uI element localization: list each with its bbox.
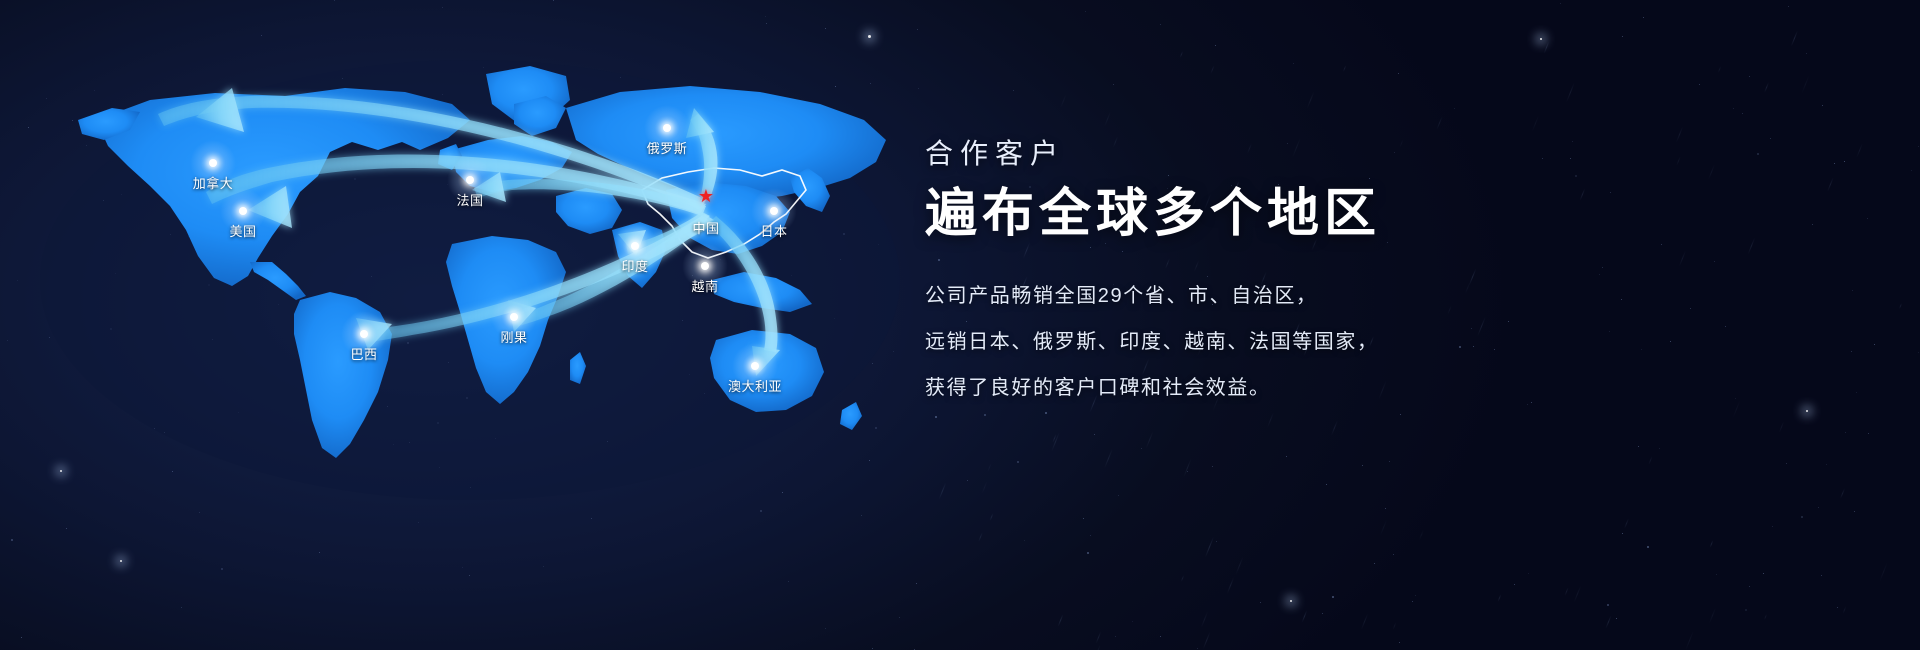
background-speck [1742,113,1743,114]
background-streak [978,532,983,542]
background-speck [1385,508,1386,509]
background-streak [1202,631,1210,649]
background-streak [1856,144,1863,159]
background-speck [1560,3,1561,4]
background-streak [989,514,993,522]
background-speck [1415,595,1416,596]
background-streak [1060,95,1066,108]
background-speck [1749,76,1750,77]
background-speck [1374,563,1375,564]
background-streak [1532,116,1539,132]
background-speck [984,414,986,416]
background-streak [1764,614,1767,620]
background-streak [1880,562,1888,581]
background-streak [1092,645,1101,650]
background-glow-dot [1290,600,1292,602]
background-streak [1145,432,1153,449]
background-streak [1380,519,1387,535]
background-streak [1709,607,1716,623]
background-speck [1834,163,1835,164]
background-speck [1851,351,1852,352]
background-speck [1528,573,1529,574]
background-streak [1096,631,1102,643]
background-streak [1104,111,1111,127]
background-streak [1361,613,1368,630]
background-speck [1132,621,1133,622]
background-streak [1718,66,1722,73]
background-speck [1918,146,1919,147]
background-streak [1205,537,1214,558]
background-speck [1113,84,1114,85]
background-glow-dot [1806,410,1808,412]
background-speck [1013,90,1014,91]
background-streak [1104,449,1113,469]
background-streak [1899,303,1902,309]
body-line-1: 公司产品畅销全国29个省、市、自治区， [925,286,1825,306]
background-streak [1827,178,1833,192]
background-speck [1821,575,1822,576]
background-speck [1868,433,1869,434]
world-map-svg [0,0,960,650]
background-speck [1115,636,1116,637]
background-speck [1531,402,1532,403]
background-speck [1874,344,1875,345]
background-speck [1745,609,1747,611]
background-speck [1216,541,1217,542]
background-speck [1399,642,1400,643]
background-speck [1659,448,1660,449]
background-streak [1236,557,1244,575]
background-streak [1052,434,1056,442]
background-speck [1024,540,1025,541]
background-streak [1181,575,1185,582]
background-speck [1197,648,1198,649]
global-partners-banner: 加拿大美国巴西法国俄罗斯中国日本印度越南刚果澳大利亚 ★ 合作客户 遍布全球多个… [0,0,1920,650]
background-speck [1286,456,1287,457]
background-speck [1763,573,1764,574]
background-speck [1094,434,1095,435]
background-speck [1643,17,1644,18]
background-speck [1716,574,1717,575]
background-streak [1267,412,1274,427]
background-speck [1160,24,1161,25]
world-map: 加拿大美国巴西法国俄罗斯中国日本印度越南刚果澳大利亚 ★ [0,0,960,650]
background-speck [1389,461,1390,462]
background-streak [1648,456,1652,464]
background-speck [1083,518,1084,519]
background-streak [1211,65,1215,74]
background-speck [1118,495,1119,496]
background-speck [1845,432,1846,433]
background-glow-dot [1540,38,1542,40]
background-streak [1342,65,1346,72]
background-speck [1647,546,1649,548]
background-streak [981,481,987,494]
background-streak [1498,594,1502,602]
background-streak [1201,612,1208,628]
background-speck [1393,554,1394,555]
background-speck [1622,533,1623,534]
background-speck [1733,108,1734,109]
background-speck [1854,511,1855,512]
background-speck [1326,484,1327,485]
background-speck [1527,404,1528,405]
background-streak [1227,577,1234,593]
background-speck [1638,446,1639,447]
background-speck [1837,607,1838,608]
background-speck [1454,108,1455,109]
background-streak [1779,421,1784,433]
background-streak [1393,622,1397,630]
background-streak [1710,540,1714,548]
background-streak [1302,610,1308,622]
background-speck [967,480,968,481]
background-streak [1733,400,1741,417]
background-streak [1801,76,1809,94]
background-streak [1057,614,1063,626]
background-speck [1293,63,1294,64]
background-streak [1566,82,1575,101]
background-speck [1412,601,1413,602]
background-speck [1362,465,1363,466]
background-speck [1749,586,1750,587]
background-speck [1616,618,1617,619]
background-speck [1822,105,1823,106]
background-streak [1574,585,1582,602]
background-streak [1840,488,1845,499]
eyebrow-title: 合作客户 [925,132,1825,172]
body-line-3: 获得了良好的客户口碑和社会效益。 [925,378,1825,398]
background-speck [1215,45,1216,46]
background-speck [1332,596,1334,598]
background-speck [1818,507,1819,508]
background-streak [1179,51,1182,58]
body-line-2: 远销日本、俄罗斯、印度、越南、法国等国家， [925,332,1825,352]
background-streak [1436,116,1442,129]
background-speck [1801,516,1803,518]
background-speck [1867,218,1868,219]
background-speck [1212,466,1213,467]
background-streak [1791,31,1798,47]
background-speck [1398,73,1399,74]
background-speck [1856,392,1857,393]
background-speck [1826,464,1827,465]
background-speck [1260,602,1261,603]
background-speck [1160,636,1161,637]
background-speck [1017,461,1019,463]
background-speck [1772,526,1773,527]
background-speck [1911,170,1912,171]
background-speck [1087,552,1089,554]
background-speck [1844,161,1845,162]
background-speck [1187,471,1188,472]
background-speck [1786,463,1787,464]
background-streak [1419,530,1423,539]
background-speck [1918,352,1919,353]
background-speck [1085,11,1086,12]
background-streak [1764,82,1769,93]
background-streak [1052,432,1060,450]
background-speck [1735,398,1736,399]
background-speck [1852,290,1853,291]
background-streak [1184,458,1192,477]
background-speck [1141,448,1142,449]
background-streak [1331,420,1338,435]
background-streak [987,463,991,471]
background-streak [1843,606,1847,614]
background-speck [1322,613,1323,614]
background-streak [1624,519,1629,530]
background-speck [1045,412,1047,414]
background-streak [1685,631,1694,650]
background-speck [1788,6,1789,7]
background-speck [1806,53,1807,54]
background-streak [1307,92,1315,109]
background-speck [1622,36,1623,37]
headline-title: 遍布全球多个地区 [925,186,1825,242]
background-speck [1699,84,1700,85]
background-streak [1544,41,1550,53]
background-speck [1514,584,1515,585]
background-speck [1607,604,1609,606]
banner-copy: 合作客户 遍布全球多个地区 公司产品畅销全国29个省、市、自治区， 远销日本、俄… [925,132,1825,398]
background-speck [1400,414,1401,415]
background-speck [1090,535,1091,536]
background-streak [1564,587,1568,596]
background-streak [1606,615,1612,628]
